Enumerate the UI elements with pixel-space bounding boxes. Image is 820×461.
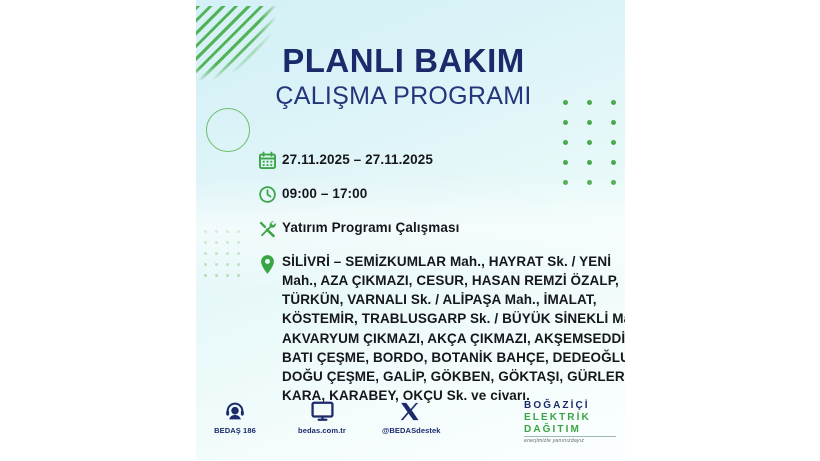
calendar-icon [252,150,282,170]
page-title: PLANLI BAKIM [196,44,611,77]
contact-channels: BEDAŞ 186 bedas.com.tr [208,398,436,435]
time-range-value: 09:00 – 17:00 [282,184,367,203]
logo-line-bogazici: BOĞAZİÇİ [524,400,616,412]
location-value: SİLİVRİ – SEMİZKUMLAR Mah., HAYRAT Sk. /… [282,252,625,405]
address-line: KÖSTEMİR, TRABLUSGARP Sk. / BÜYÜK SİNEKL… [282,309,625,328]
info-row-time: 09:00 – 17:00 [252,184,612,204]
contact-call-center-label: BEDAŞ 186 [208,426,262,435]
contact-x-account[interactable]: @BEDASdestek [382,398,436,435]
contact-x-label: @BEDASdestek [382,426,436,435]
contact-call-center[interactable]: BEDAŞ 186 [208,398,262,435]
bedas-logo: BOĞAZİÇİ ELEKTRİK DAĞITIM enerjimizle ya… [524,400,616,444]
info-row-work-type: Yatırım Programı Çalışması [252,218,612,238]
map-pin-icon [252,252,282,275]
info-row-location: SİLİVRİ – SEMİZKUMLAR Mah., HAYRAT Sk. /… [252,252,612,405]
clock-icon [252,184,282,204]
contact-website-label: bedas.com.tr [295,426,349,435]
logo-line-elektrik: ELEKTRİK [524,412,616,424]
date-range-value: 27.11.2025 – 27.11.2025 [282,150,433,169]
address-line: SİLİVRİ – SEMİZKUMLAR Mah., HAYRAT Sk. /… [282,252,625,271]
announcement-card: PLANLI BAKIM ÇALIŞMA PROGRAMI [196,0,625,461]
tools-icon [252,218,282,238]
monitor-icon [295,398,349,422]
logo-tagline: enerjimizle yanınızdayız [524,436,616,444]
footer: BEDAŞ 186 bedas.com.tr [196,398,625,444]
x-logo-icon [382,398,436,422]
info-row-date: 27.11.2025 – 27.11.2025 [252,150,612,170]
headset-icon [208,398,262,422]
address-line: Mah., AZA ÇIKMAZI, CESUR, HASAN REMZİ ÖZ… [282,271,625,290]
work-type-value: Yatırım Programı Çalışması [282,218,459,237]
screenshot-stage: PLANLI BAKIM ÇALIŞMA PROGRAMI [0,0,820,461]
logo-line-dagitim: DAĞITIM [524,424,616,436]
dot-grid-left-decoration [204,230,248,285]
address-line: AKVARYUM ÇIKMAZI, AKÇA ÇIKMAZI, AKŞEMSED… [282,329,625,348]
contact-website[interactable]: bedas.com.tr [295,398,349,435]
info-list: 27.11.2025 – 27.11.2025 09:00 – 17:00 [252,150,612,405]
heading-block: PLANLI BAKIM ÇALIŞMA PROGRAMI [196,44,625,109]
address-line: TÜRKÜN, VARNALI Sk. / ALİPAŞA Mah., İMAL… [282,290,625,309]
page-subtitle: ÇALIŞMA PROGRAMI [196,84,611,109]
address-line: BATI ÇEŞME, BORDO, BOTANİK BAHÇE, DEDEOĞ… [282,348,625,367]
address-line: DOĞU ÇEŞME, GALİP, GÖKBEN, GÖKTAŞI, GÜRL… [282,367,625,386]
circle-outline-decoration [206,108,250,152]
